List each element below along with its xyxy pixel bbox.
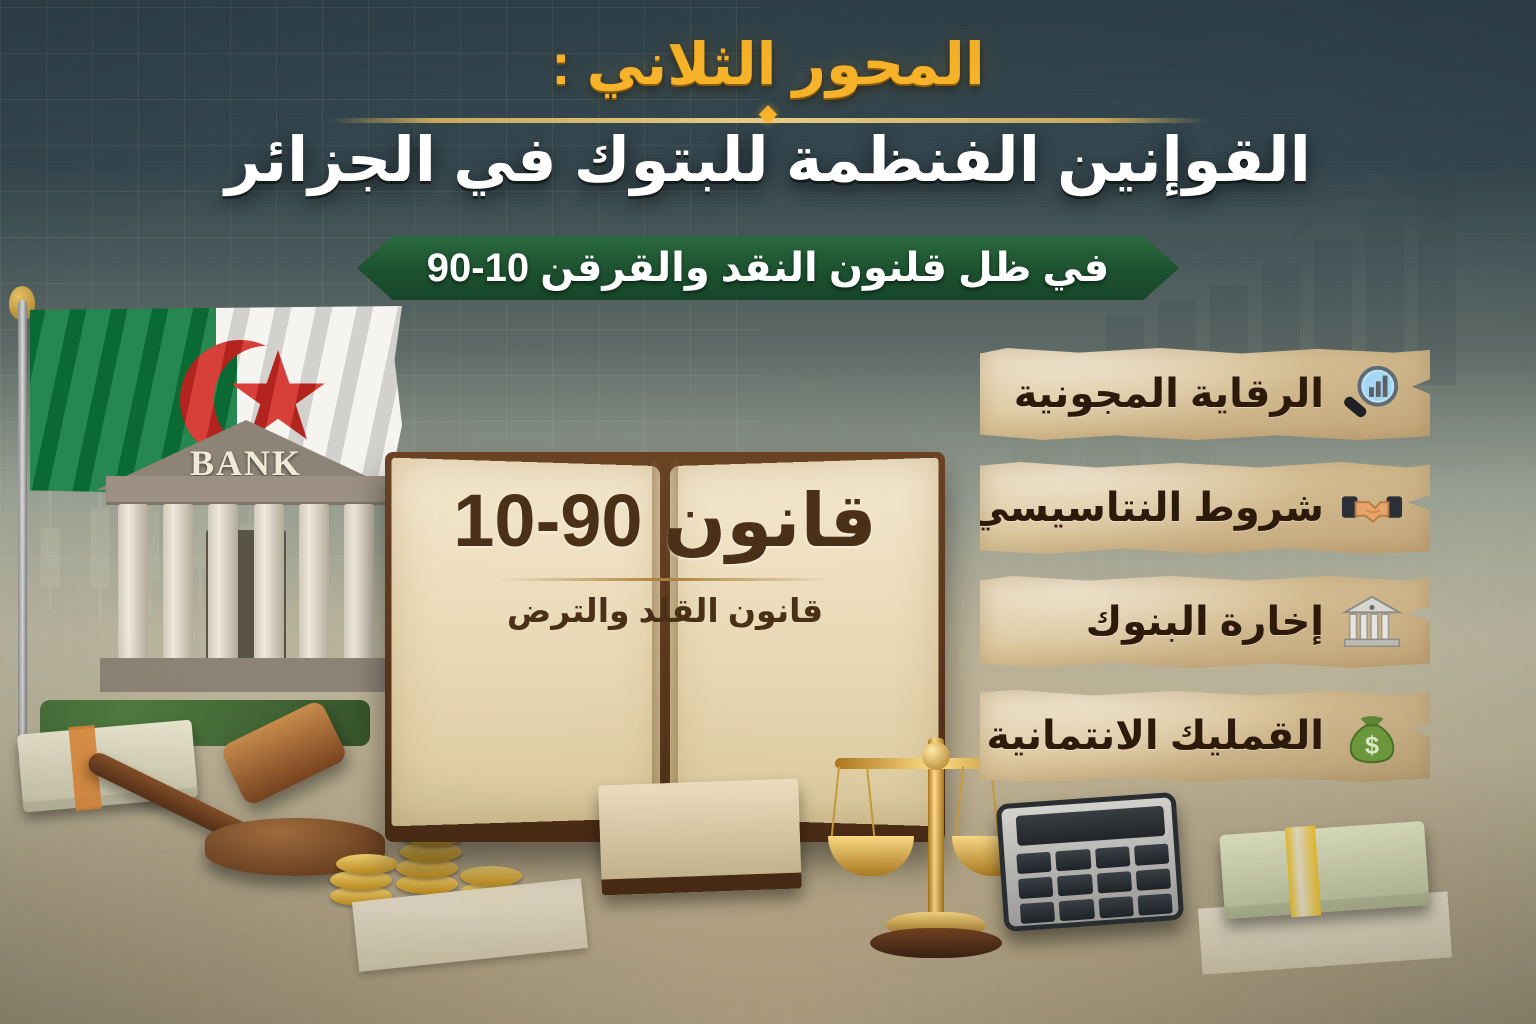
bank-columns	[118, 504, 374, 664]
bank-building: BANK	[96, 420, 396, 720]
magnifier-chart-icon	[1340, 362, 1404, 426]
page-kicker: المحور الثلاني :	[0, 30, 1536, 98]
subtitle-banner: في ظل قلنون النقد والقرقن 10-90	[357, 236, 1179, 300]
list-item-label: شروط النتاسيسي	[969, 485, 1324, 531]
book-divider	[500, 578, 830, 581]
page-title: القوإنين الفنظمة للبتوك في الجزائر	[0, 128, 1536, 193]
handshake-icon	[1340, 476, 1404, 540]
svg-text:$: $	[1365, 731, 1379, 759]
calculator-icon	[996, 792, 1184, 932]
book-subtitle: قانون القلد والترض	[385, 591, 945, 630]
list-item-label: الرقاية المجونية	[998, 371, 1324, 417]
subtitle-banner-label: في ظل قلنون النقد والقرقن 10-90	[427, 245, 1109, 291]
money-bag-icon: $	[1340, 704, 1404, 768]
list-item[interactable]: إخارة البنوك	[980, 576, 1430, 668]
infographic-canvas: BANK قانون 90-10 قانون القلد والترض	[0, 0, 1536, 1024]
list-item[interactable]: $ القمليك الانتمانية	[980, 690, 1430, 782]
dollar-bundle-icon	[1219, 821, 1429, 919]
topics-list: الرقاية المجونية شروط النتاسيسي	[980, 348, 1430, 804]
list-item[interactable]: الرقاية المجونية	[980, 348, 1430, 440]
book-title: قانون 90-10	[385, 478, 945, 564]
calculator-keys	[1016, 844, 1173, 924]
flag-pole	[18, 300, 27, 760]
law-book-icon	[598, 779, 802, 896]
bank-architrave	[106, 476, 386, 502]
calculator-screen	[1016, 806, 1166, 846]
list-item[interactable]: شروط النتاسيسي	[980, 462, 1430, 554]
list-item-label: إخارة البنوك	[998, 599, 1324, 645]
bank-building-icon	[1340, 590, 1404, 654]
list-item-label: القمليك الانتمانية	[986, 713, 1324, 759]
bank-base	[100, 658, 392, 692]
header-divider	[328, 118, 1208, 123]
book-text-block: قانون 90-10 قانون القلد والترض	[385, 478, 945, 630]
